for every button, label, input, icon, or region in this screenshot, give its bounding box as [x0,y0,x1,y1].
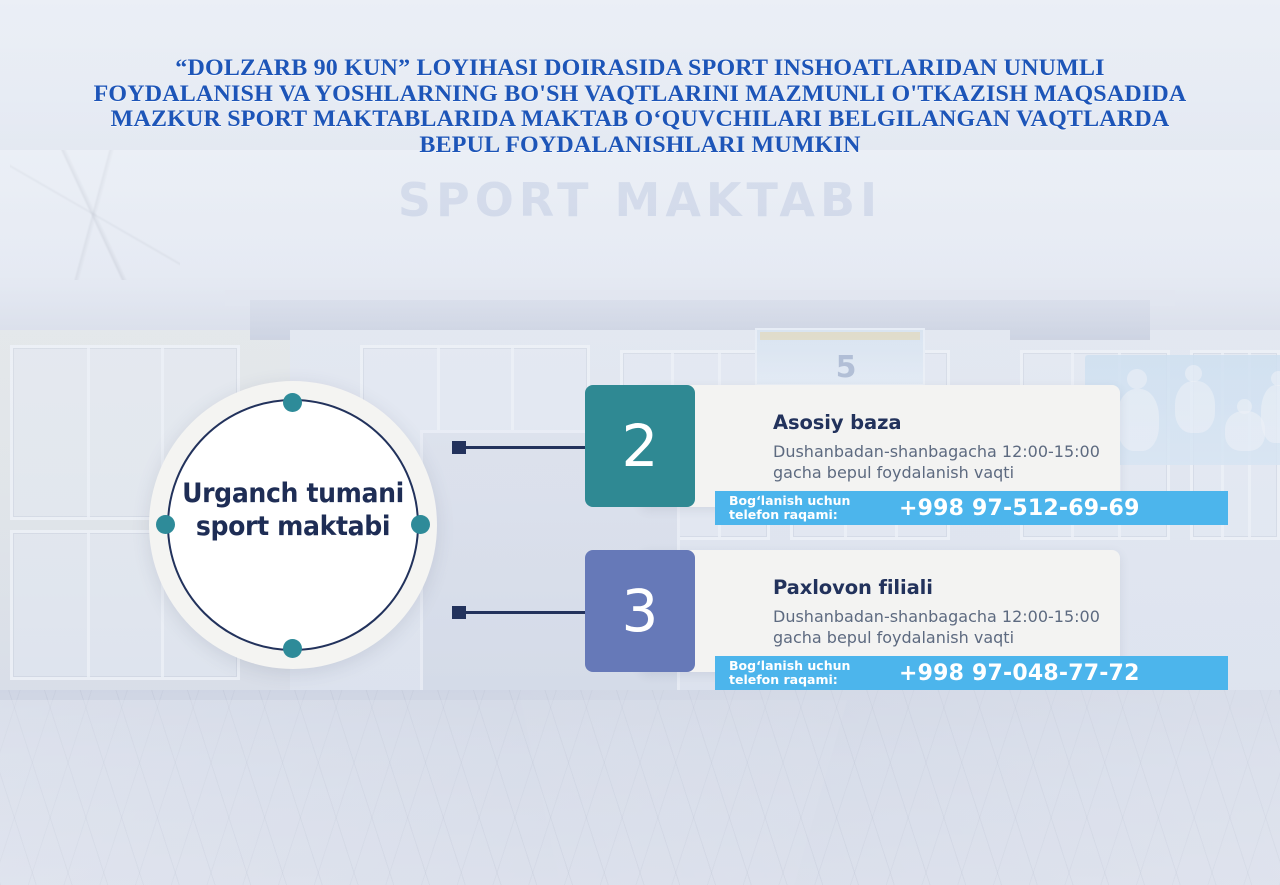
card-description: Dushanbadan-shanbagacha 12:00-15:00 gach… [773,606,1143,648]
connector-line [464,446,600,449]
facility-card[interactable]: Paxlovon filiali Dushanbadan-shanbagacha… [585,550,1120,672]
phone-number[interactable]: +998 97-512-69-69 [899,496,1140,521]
hub-node-dot-west-icon [156,515,175,534]
title-line-3: MAZKUR SPORT MAKTABLARIDA MAKTAB O‘QUVCH… [38,107,1242,133]
phone-label-line-1: Bog‘lanish uchun [729,493,850,508]
facility-card[interactable]: Asosiy baza Dushanbadan-shanbagacha 12:0… [585,385,1120,507]
card-number-badge: 3 [585,550,695,672]
card-body: Asosiy baza Dushanbadan-shanbagacha 12:0… [640,385,1120,507]
connector-line [464,611,600,614]
hub-circle: Urganch tumani sport maktabi [149,381,437,669]
title-line-4: BEPUL FOYDALANISHLARI MUMKIN [38,133,1242,159]
phone-number[interactable]: +998 97-048-77-72 [899,661,1140,686]
hub-node-dot-north-icon [283,393,302,412]
title-line-1: “DOLZARB 90 KUN” LOYIHASI DOIRASIDA SPOR… [38,56,1242,82]
page-title: “DOLZARB 90 KUN” LOYIHASI DOIRASIDA SPOR… [38,56,1242,158]
hub-node-dot-south-icon [283,639,302,658]
phone-label-line-1: Bog‘lanish uchun [729,658,850,673]
hub-circle-label: Urganch tumani sport maktabi [170,477,417,543]
phone-label: Bog‘lanish uchun telefon raqami: [729,659,889,687]
phone-bar[interactable]: Bog‘lanish uchun telefon raqami: +998 97… [715,656,1228,690]
card-body: Paxlovon filiali Dushanbadan-shanbagacha… [640,550,1120,672]
title-line-2: FOYDALANISH VA YOSHLARNING BO'SH VAQTLAR… [38,82,1242,108]
phone-label-line-2: telefon raqami: [729,672,838,687]
card-description: Dushanbadan-shanbagacha 12:00-15:00 gach… [773,441,1143,483]
card-number-badge: 2 [585,385,695,507]
hub-label-line-2: sport maktabi [196,511,390,542]
phone-label: Bog‘lanish uchun telefon raqami: [729,494,889,522]
card-title: Asosiy baza [773,411,901,434]
card-title: Paxlovon filiali [773,576,933,599]
infographic-poster: SPORT MAKTABI 5 “ [0,0,1280,885]
hub-node-dot-east-icon [411,515,430,534]
phone-label-line-2: telefon raqami: [729,507,838,522]
phone-bar[interactable]: Bog‘lanish uchun telefon raqami: +998 97… [715,491,1228,525]
hub-label-line-1: Urganch tumani [182,478,404,509]
